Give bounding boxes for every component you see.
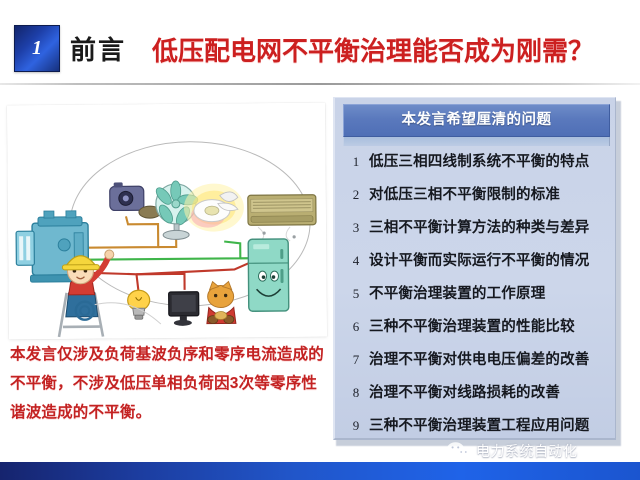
section-number-text: 1 [15, 26, 59, 71]
list-item-number: 4 [343, 253, 369, 269]
list-item-number: 3 [343, 220, 369, 236]
list-item-label: 三种不平衡治理装置工程应用问题 [369, 414, 590, 435]
list-item-number: 1 [343, 154, 369, 170]
list-item-number: 6 [343, 319, 369, 335]
list-item-number: 8 [343, 385, 369, 401]
list-item-label: 治理不平衡对供电电压偏差的改善 [369, 348, 590, 369]
list-item-number: 2 [343, 187, 369, 203]
list-item[interactable]: 7 治理不平衡对供电电压偏差的改善 [343, 348, 610, 381]
illustration-card [7, 103, 327, 340]
list-item-label: 设计平衡而实际运行不平衡的情况 [369, 249, 590, 270]
header-divider [0, 83, 640, 85]
panel-body: 本发言希望厘清的问题 1 低压三相四线制系统不平衡的特点 2 对低压三相不平衡限… [333, 97, 616, 440]
watermark: 电力系统自动化 [446, 440, 578, 462]
list-item-label: 低压三相四线制系统不平衡的特点 [369, 150, 590, 171]
watermark-label: 电力系统自动化 [476, 441, 578, 461]
list-item-label: 对低压三相不平衡限制的标准 [369, 183, 560, 204]
panel-header-label: 本发言希望厘清的问题 [344, 105, 609, 136]
panel-header: 本发言希望厘清的问题 [343, 104, 610, 137]
panel-header-underband [343, 137, 610, 146]
page-title: 低压配电网不平衡治理能否成为刚需？ [152, 31, 594, 68]
list-item[interactable]: 6 三种不平衡治理装置的性能比较 [343, 315, 610, 348]
red-emphasis-caption: 本发言仅涉及负荷基波负序和零序电流造成的不平衡，不涉及低压单相负荷因3次等零序性… [10, 340, 326, 427]
list-item-label: 治理不平衡对线路损耗的改善 [369, 381, 560, 402]
wechat-logo-icon [446, 441, 472, 461]
questions-list: 1 低压三相四线制系统不平衡的特点 2 对低压三相不平衡限制的标准 3 三相不平… [343, 150, 610, 447]
list-item[interactable]: 1 低压三相四线制系统不平衡的特点 [343, 150, 610, 183]
power-distribution-cartoon-icon [7, 103, 327, 340]
list-item-number: 7 [343, 352, 369, 368]
list-item-label: 三种不平衡治理装置的性能比较 [369, 315, 575, 336]
bottom-accent-bar [0, 462, 640, 480]
list-item-label: 不平衡治理装置的工作原理 [369, 282, 545, 303]
list-item[interactable]: 2 对低压三相不平衡限制的标准 [343, 183, 610, 216]
slide-header: 1 前言 低压配电网不平衡治理能否成为刚需？ [0, 0, 640, 88]
list-item[interactable]: 4 设计平衡而实际运行不平衡的情况 [343, 249, 610, 282]
section-number-badge: 1 [14, 25, 60, 72]
slide-canvas: 1 前言 低压配电网不平衡治理能否成为刚需？ [0, 0, 640, 480]
list-item[interactable]: 8 治理不平衡对线路损耗的改善 [343, 381, 610, 414]
list-item-number: 9 [343, 418, 369, 434]
list-item-label: 三相不平衡计算方法的种类与差异 [369, 216, 590, 237]
list-item-number: 5 [343, 286, 369, 302]
refrigerator-icon [248, 239, 289, 311]
list-item[interactable]: 5 不平衡治理装置的工作原理 [343, 282, 610, 315]
list-item[interactable]: 3 三相不平衡计算方法的种类与差异 [343, 216, 610, 249]
section-label: 前言 [70, 30, 126, 67]
questions-panel: 本发言希望厘清的问题 1 低压三相四线制系统不平衡的特点 2 对低压三相不平衡限… [333, 97, 621, 446]
